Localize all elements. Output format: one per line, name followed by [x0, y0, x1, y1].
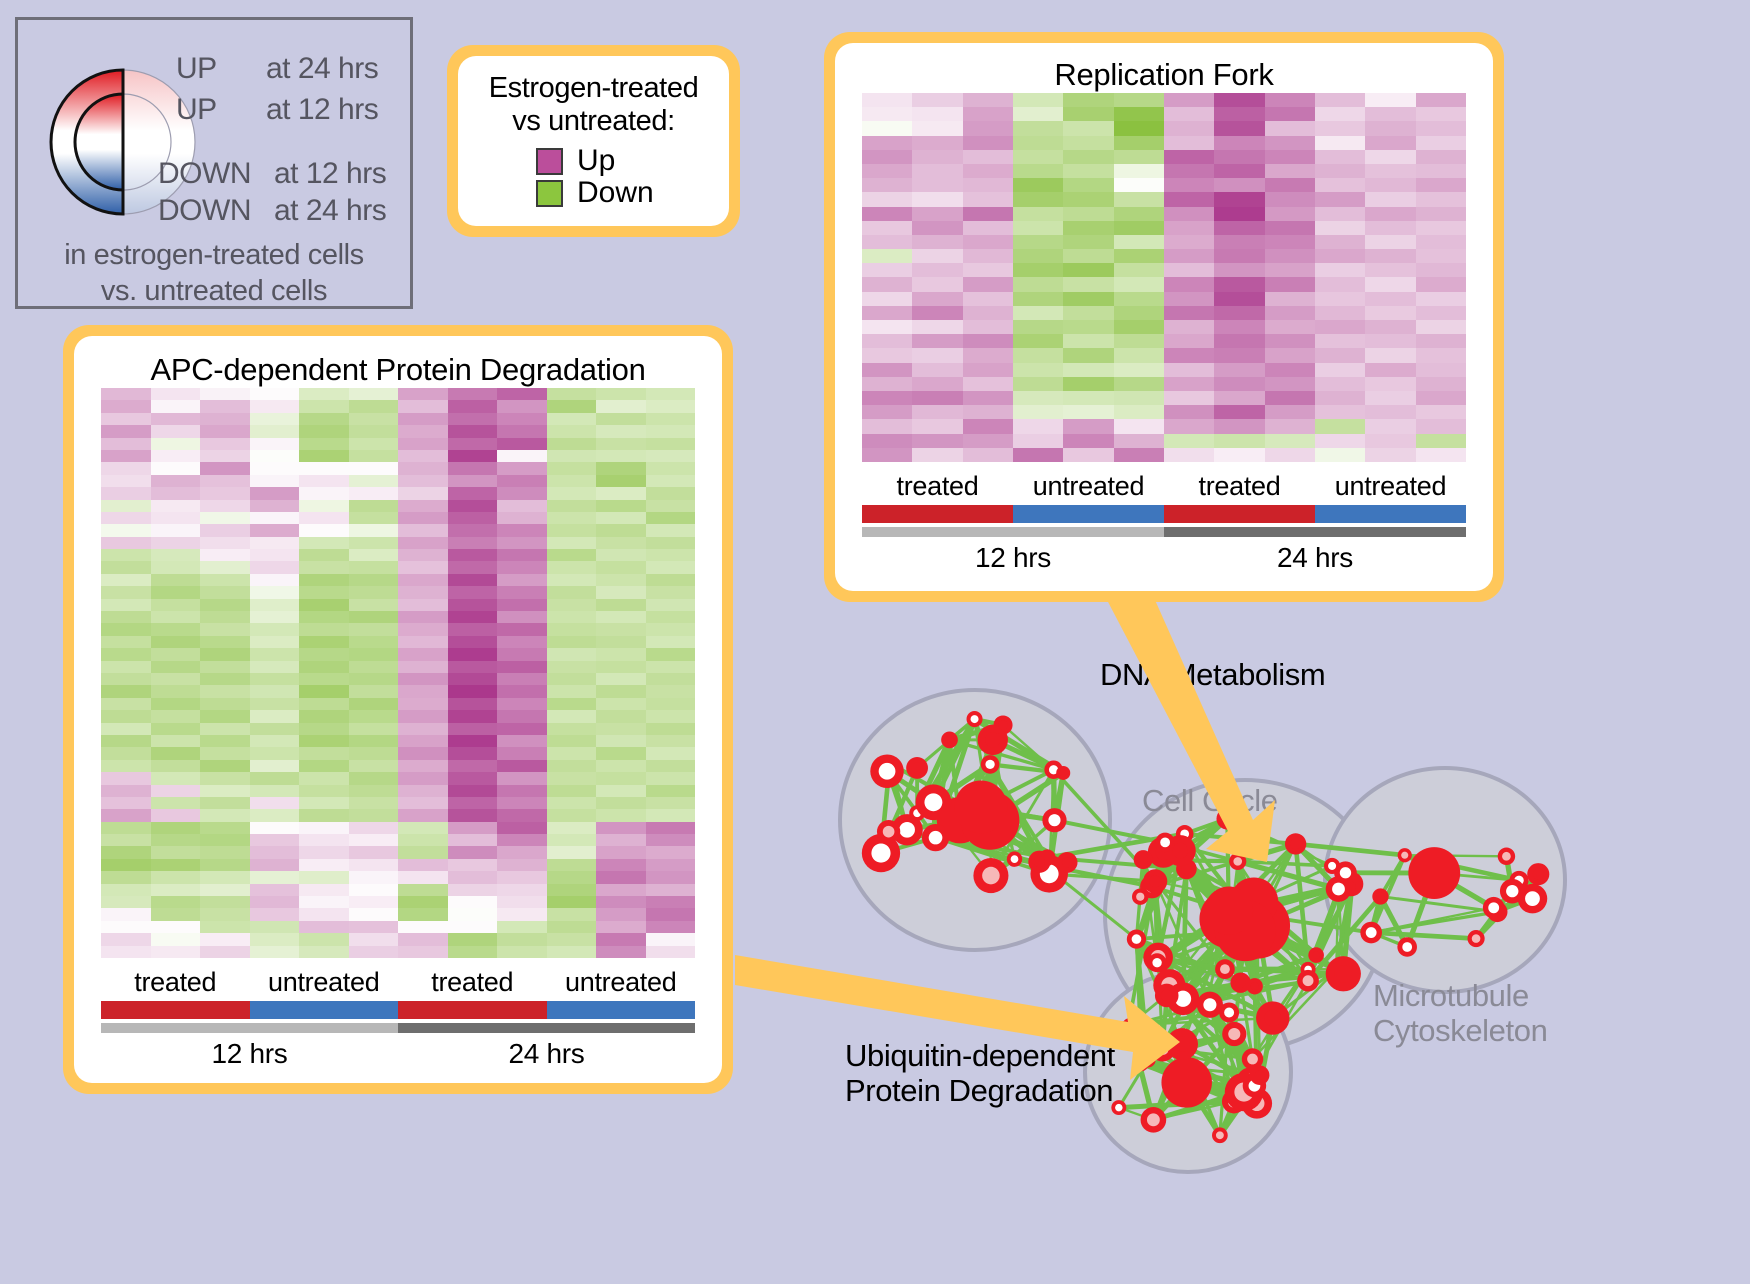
- heat-cell: [200, 846, 250, 858]
- heat-cell: [1265, 93, 1315, 107]
- heat-cell: [448, 611, 498, 623]
- heat-cell: [398, 723, 448, 735]
- heat-cell: [299, 698, 349, 710]
- heat-cell: [596, 871, 646, 883]
- heat-cell: [1063, 93, 1113, 107]
- cluster-label-dna-metabolism: DNA Metabolism: [1100, 657, 1325, 692]
- heat-cell: [151, 871, 201, 883]
- heat-cell: [101, 500, 151, 512]
- heat-cell: [448, 834, 498, 846]
- heat-cell: [151, 785, 201, 797]
- heat-cell: [862, 292, 912, 306]
- heat-cell: [963, 434, 1013, 448]
- heat-cell: [1114, 121, 1164, 135]
- heat-cell: [299, 487, 349, 499]
- heat-cell: [151, 413, 201, 425]
- apc-heatmap: [101, 388, 695, 958]
- network-node-core: [1264, 1010, 1281, 1027]
- network-node-core: [985, 760, 994, 769]
- heat-cell: [547, 599, 597, 611]
- heat-cell: [200, 921, 250, 933]
- heat-cell: [398, 623, 448, 635]
- network-node[interactable]: [1205, 887, 1253, 935]
- heat-cell: [151, 574, 201, 586]
- heat-cell: [349, 586, 399, 598]
- heat-cell: [1315, 419, 1365, 433]
- heat-cell: [1164, 207, 1214, 221]
- heat-cell: [448, 450, 498, 462]
- heat-cell: [200, 561, 250, 573]
- heat-cell: [1315, 320, 1365, 334]
- heat-cell: [497, 512, 547, 524]
- heat-cell: [646, 933, 696, 945]
- heat-cell: [912, 263, 962, 277]
- heat-cell: [151, 388, 201, 400]
- updown-title-line1: Estrogen-treated: [472, 72, 715, 105]
- heat-cell: [299, 636, 349, 648]
- network-node-core: [1236, 978, 1246, 988]
- ring-row-2-direction: DOWN: [158, 157, 251, 191]
- heat-cell: [963, 348, 1013, 362]
- heat-cell: [1214, 348, 1264, 362]
- heat-cell: [151, 772, 201, 784]
- heat-cell: [497, 400, 547, 412]
- heat-cell: [646, 537, 696, 549]
- heat-cell: [299, 884, 349, 896]
- heat-cell: [398, 400, 448, 412]
- heat-cell: [1214, 434, 1264, 448]
- heat-cell: [596, 512, 646, 524]
- cluster-label-cell-cycle: Cell Cycle: [1142, 783, 1278, 818]
- heat-cell: [963, 391, 1013, 405]
- heat-cell: [299, 785, 349, 797]
- heat-cell: [1013, 277, 1063, 291]
- heat-cell: [101, 438, 151, 450]
- heat-cell: [101, 896, 151, 908]
- heat-cell: [101, 549, 151, 561]
- mt-line1: Microtubule: [1373, 978, 1547, 1013]
- heat-cell: [1416, 263, 1466, 277]
- network-node-core: [1533, 869, 1544, 880]
- heat-cell: [250, 946, 300, 958]
- replication-fork-title: Replication Fork: [835, 57, 1493, 93]
- heat-cell: [200, 611, 250, 623]
- heat-cell: [1013, 121, 1063, 135]
- heat-cell: [1114, 164, 1164, 178]
- heat-cell: [101, 933, 151, 945]
- heat-cell: [448, 537, 498, 549]
- heat-cell: [299, 723, 349, 735]
- heat-cell: [1063, 306, 1113, 320]
- network-node-core: [1472, 934, 1481, 943]
- heat-cell: [151, 450, 201, 462]
- heat-cell: [547, 512, 597, 524]
- heat-cell: [1315, 306, 1365, 320]
- heat-cell: [1265, 263, 1315, 277]
- rf-condition-colorbar: [862, 505, 1466, 523]
- heat-cell: [596, 599, 646, 611]
- heat-cell: [497, 648, 547, 660]
- heat-cell: [1315, 263, 1365, 277]
- heat-cell: [151, 661, 201, 673]
- heat-cell: [1164, 348, 1214, 362]
- heat-cell: [299, 735, 349, 747]
- heat-cell: [448, 747, 498, 759]
- network-node-core: [982, 867, 1000, 885]
- heat-cell: [101, 648, 151, 660]
- heat-cell: [1164, 93, 1214, 107]
- heat-cell: [398, 896, 448, 908]
- heat-cell: [1416, 405, 1466, 419]
- heat-cell: [349, 599, 399, 611]
- network-node-core: [1525, 891, 1540, 906]
- heat-cell: [101, 785, 151, 797]
- heat-cell: [963, 178, 1013, 192]
- network-node[interactable]: [954, 780, 1007, 833]
- heat-cell: [151, 673, 201, 685]
- heat-cell: [1265, 363, 1315, 377]
- heat-cell: [1214, 263, 1264, 277]
- heat-cell: [862, 391, 912, 405]
- heat-cell: [1063, 150, 1113, 164]
- heat-cell: [646, 438, 696, 450]
- heat-cell: [1265, 419, 1315, 433]
- heat-cell: [1265, 377, 1315, 391]
- heat-cell: [1365, 121, 1415, 135]
- heat-cell: [250, 648, 300, 660]
- heat-cell: [963, 121, 1013, 135]
- heat-cell: [497, 475, 547, 487]
- heat-cell: [250, 772, 300, 784]
- heat-cell: [448, 822, 498, 834]
- heat-cell: [448, 388, 498, 400]
- heat-cell: [398, 785, 448, 797]
- network-node-core: [998, 720, 1008, 730]
- heat-cell: [200, 735, 250, 747]
- heat-cell: [547, 561, 597, 573]
- heat-cell: [398, 908, 448, 920]
- down-swatch-icon: [536, 180, 563, 207]
- heat-cell: [1265, 150, 1315, 164]
- heat-cell: [398, 933, 448, 945]
- heat-cell: [1063, 178, 1113, 192]
- ring-row-1-direction: UP: [176, 93, 217, 127]
- heat-cell: [250, 450, 300, 462]
- heat-cell: [299, 388, 349, 400]
- heat-cell: [448, 500, 498, 512]
- heat-cell: [596, 438, 646, 450]
- heat-cell: [151, 908, 201, 920]
- heat-cell: [1365, 419, 1415, 433]
- heat-cell: [547, 524, 597, 536]
- heat-cell: [497, 933, 547, 945]
- heat-cell: [547, 586, 597, 598]
- heat-cell: [497, 549, 547, 561]
- heat-cell: [200, 524, 250, 536]
- heat-cell: [1214, 192, 1264, 206]
- apc-degradation-panel: APC-dependent Protein Degradation treate…: [63, 325, 733, 1094]
- apc-cond-2: treated: [398, 967, 547, 1001]
- heat-cell: [349, 822, 399, 834]
- heat-cell: [250, 574, 300, 586]
- heat-cell: [1416, 192, 1466, 206]
- heat-cell: [497, 661, 547, 673]
- heat-cell: [596, 884, 646, 896]
- heat-cell: [1164, 363, 1214, 377]
- heat-cell: [1365, 320, 1415, 334]
- heat-cell: [250, 673, 300, 685]
- heat-cell: [101, 809, 151, 821]
- replication-fork-panel: Replication Fork treated untreated treat…: [824, 32, 1504, 602]
- heat-cell: [349, 760, 399, 772]
- network-node-core: [1174, 1036, 1190, 1052]
- heat-cell: [349, 809, 399, 821]
- heat-cell: [497, 896, 547, 908]
- heat-cell: [912, 249, 962, 263]
- heat-cell: [862, 434, 912, 448]
- heat-cell: [1013, 391, 1063, 405]
- heat-cell: [101, 574, 151, 586]
- heat-cell: [547, 908, 597, 920]
- heat-cell: [1214, 448, 1264, 462]
- heat-cell: [547, 388, 597, 400]
- heat-cell: [200, 648, 250, 660]
- heat-cell: [101, 586, 151, 598]
- heat-cell: [862, 320, 912, 334]
- heat-cell: [398, 772, 448, 784]
- heat-cell: [448, 462, 498, 474]
- heat-cell: [299, 648, 349, 660]
- heat-cell: [349, 834, 399, 846]
- heat-cell: [1365, 363, 1415, 377]
- heat-cell: [547, 822, 597, 834]
- heat-cell: [299, 500, 349, 512]
- condition-bar-segment: [862, 505, 1013, 523]
- heat-cell: [646, 760, 696, 772]
- heat-cell: [448, 661, 498, 673]
- heat-cell: [250, 475, 300, 487]
- heat-cell: [862, 263, 912, 277]
- heat-cell: [299, 760, 349, 772]
- heat-cell: [151, 710, 201, 722]
- heat-cell: [299, 611, 349, 623]
- heat-cell: [349, 537, 399, 549]
- heat-cell: [547, 636, 597, 648]
- heat-cell: [1063, 320, 1113, 334]
- heat-cell: [646, 549, 696, 561]
- heat-cell: [596, 747, 646, 759]
- heat-cell: [200, 400, 250, 412]
- heat-cell: [646, 524, 696, 536]
- heat-cell: [1063, 249, 1113, 263]
- heat-cell: [151, 425, 201, 437]
- heat-cell: [1013, 107, 1063, 121]
- heat-cell: [1114, 448, 1164, 462]
- heat-cell: [912, 235, 962, 249]
- heat-cell: [398, 537, 448, 549]
- heat-cell: [349, 797, 399, 809]
- heat-cell: [1013, 178, 1063, 192]
- heat-cell: [1063, 207, 1113, 221]
- heat-cell: [1315, 121, 1365, 135]
- heat-cell: [1114, 235, 1164, 249]
- heat-cell: [1265, 235, 1315, 249]
- heat-cell: [349, 884, 399, 896]
- condition-bar-segment: [547, 1001, 696, 1019]
- heat-cell: [448, 487, 498, 499]
- heat-cell: [398, 747, 448, 759]
- heat-cell: [151, 896, 201, 908]
- heat-cell: [1365, 292, 1415, 306]
- time-bar-segment: [1164, 527, 1466, 537]
- heat-cell: [1164, 221, 1214, 235]
- heat-cell: [1114, 377, 1164, 391]
- heat-cell: [1214, 164, 1264, 178]
- heat-cell: [547, 425, 597, 437]
- heat-cell: [299, 673, 349, 685]
- heat-cell: [200, 512, 250, 524]
- heat-cell: [862, 306, 912, 320]
- heat-cell: [497, 450, 547, 462]
- heat-cell: [250, 487, 300, 499]
- heat-cell: [1114, 405, 1164, 419]
- heat-cell: [151, 512, 201, 524]
- heat-cell: [963, 136, 1013, 150]
- heat-cell: [1114, 391, 1164, 405]
- heat-cell: [1265, 164, 1315, 178]
- heat-cell: [1164, 136, 1214, 150]
- heat-cell: [596, 673, 646, 685]
- heat-cell: [349, 549, 399, 561]
- heat-cell: [596, 388, 646, 400]
- heat-cell: [1114, 207, 1164, 221]
- heat-cell: [250, 760, 300, 772]
- rf-cond-1: untreated: [1013, 471, 1164, 505]
- network-node-core: [1502, 852, 1511, 861]
- network-node[interactable]: [1408, 847, 1460, 899]
- heat-cell: [1063, 277, 1113, 291]
- apc-cond-0: treated: [101, 967, 250, 1001]
- heat-cell: [1164, 164, 1214, 178]
- heat-cell: [101, 636, 151, 648]
- heat-cell: [1265, 434, 1315, 448]
- heat-cell: [1114, 192, 1164, 206]
- heat-cell: [349, 723, 399, 735]
- ring-legend-footer: in estrogen-treated cells vs. untreated …: [18, 238, 410, 309]
- heat-cell: [101, 846, 151, 858]
- condition-bar-segment: [250, 1001, 399, 1019]
- heat-cell: [448, 846, 498, 858]
- heat-cell: [448, 946, 498, 958]
- heat-cell: [912, 434, 962, 448]
- heat-cell: [1214, 235, 1264, 249]
- heat-cell: [200, 475, 250, 487]
- network-node-core: [1132, 934, 1142, 944]
- heat-cell: [497, 599, 547, 611]
- heat-cell: [299, 524, 349, 536]
- heat-cell: [101, 673, 151, 685]
- heat-cell: [349, 462, 399, 474]
- heat-cell: [547, 797, 597, 809]
- heat-cell: [1114, 363, 1164, 377]
- heat-cell: [299, 685, 349, 697]
- heat-cell: [596, 487, 646, 499]
- network-node[interactable]: [1161, 1057, 1212, 1108]
- heat-cell: [646, 623, 696, 635]
- heat-cell: [646, 512, 696, 524]
- heat-cell: [349, 438, 399, 450]
- heat-cell: [448, 797, 498, 809]
- heat-cell: [497, 735, 547, 747]
- heat-cell: [299, 450, 349, 462]
- heat-cell: [1416, 292, 1466, 306]
- condition-bar-segment: [1315, 505, 1466, 523]
- heat-cell: [101, 747, 151, 759]
- heat-cell: [547, 623, 597, 635]
- heat-cell: [151, 946, 201, 958]
- heat-cell: [448, 400, 498, 412]
- heat-cell: [299, 623, 349, 635]
- heat-cell: [1114, 107, 1164, 121]
- heat-cell: [151, 438, 201, 450]
- heat-cell: [862, 363, 912, 377]
- heat-cell: [596, 661, 646, 673]
- heat-cell: [547, 946, 597, 958]
- heat-cell: [547, 896, 597, 908]
- heat-cell: [1214, 277, 1264, 291]
- heat-cell: [497, 723, 547, 735]
- heat-cell: [1315, 93, 1365, 107]
- heat-cell: [398, 475, 448, 487]
- network-node-core: [1488, 902, 1499, 913]
- heat-cell: [151, 611, 201, 623]
- heat-cell: [1063, 121, 1113, 135]
- heat-cell: [448, 785, 498, 797]
- heat-cell: [349, 487, 399, 499]
- heat-cell: [547, 475, 597, 487]
- heat-cell: [448, 586, 498, 598]
- legend-item-up: Up: [536, 146, 715, 176]
- heat-cell: [547, 834, 597, 846]
- heat-cell: [963, 207, 1013, 221]
- ring-row-0-time: at 24 hrs: [266, 52, 378, 86]
- heat-cell: [1114, 292, 1164, 306]
- heat-cell: [151, 698, 201, 710]
- network-node-core: [879, 763, 896, 780]
- heat-cell: [646, 747, 696, 759]
- heat-cell: [200, 623, 250, 635]
- apc-cond-3: untreated: [547, 967, 696, 1001]
- rf-time-0: 12 hrs: [862, 537, 1164, 574]
- heat-cell: [349, 661, 399, 673]
- rf-time-1: 24 hrs: [1164, 537, 1466, 574]
- heat-cell: [250, 735, 300, 747]
- heat-cell: [1214, 320, 1264, 334]
- heat-cell: [646, 636, 696, 648]
- heat-cell: [200, 487, 250, 499]
- heat-cell: [398, 549, 448, 561]
- ub-line1: Ubiquitin-dependent: [845, 1038, 1115, 1073]
- heat-cell: [299, 933, 349, 945]
- heat-cell: [1265, 277, 1315, 291]
- heat-cell: [250, 388, 300, 400]
- heat-cell: [448, 859, 498, 871]
- heat-cell: [1114, 320, 1164, 334]
- heat-cell: [596, 425, 646, 437]
- heat-cell: [646, 822, 696, 834]
- heat-cell: [596, 611, 646, 623]
- heat-cell: [1114, 136, 1164, 150]
